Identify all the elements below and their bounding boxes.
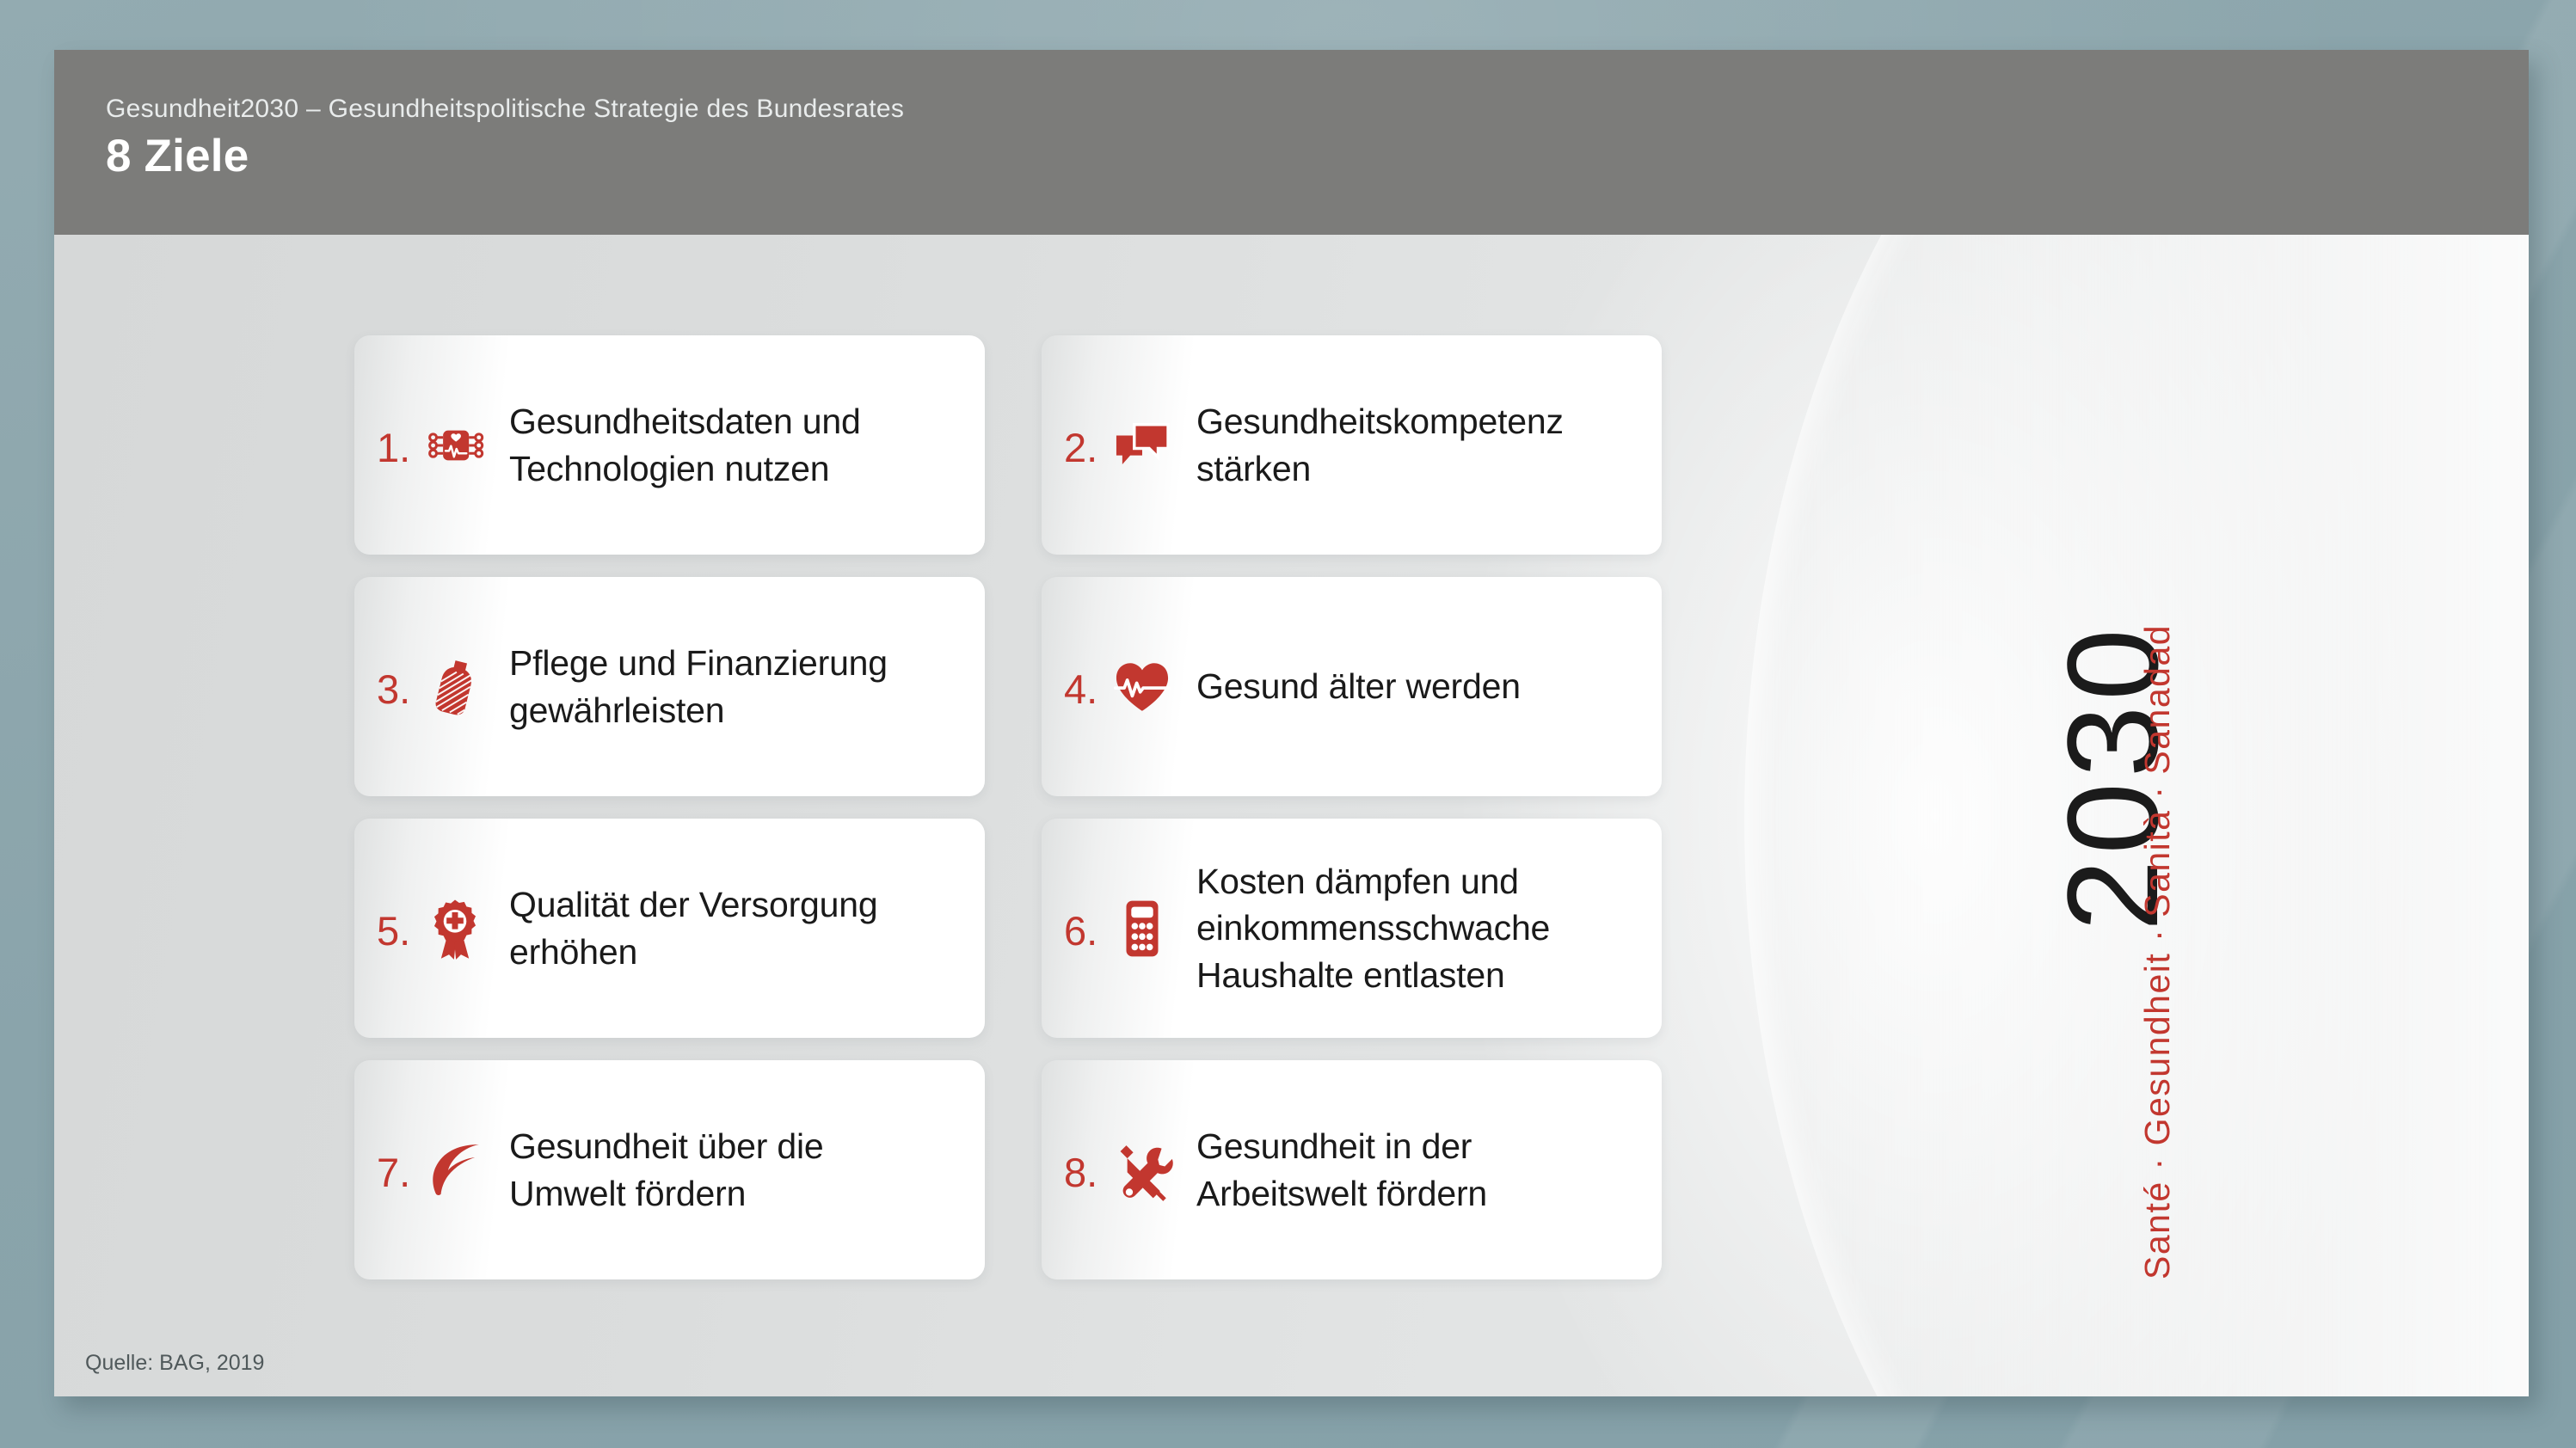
goal-number: 3. xyxy=(377,664,423,709)
slide-eyebrow: Gesundheit2030 – Gesundheitspolitische S… xyxy=(106,95,904,124)
brand-languages: Santé · Gesundheit · Sanità · Sanadad xyxy=(2137,355,2178,1279)
slide: Gesundheit2030 – Gesundheitspolitische S… xyxy=(54,50,2529,1396)
goal-card-5[interactable]: 5. Qualität der Versorgung erhöhen xyxy=(354,819,985,1038)
goal-label: Gesund älter werden xyxy=(1196,663,1626,709)
goal-label: Gesundheit in der Arbeitswelt fördern xyxy=(1196,1123,1626,1216)
goal-label: Qualität der Versorgung erhöhen xyxy=(509,881,949,974)
goal-card-4[interactable]: 4. Gesund älter werden xyxy=(1042,577,1662,796)
goal-card-grid: 1. xyxy=(354,335,1662,1279)
goal-label: Gesundheit über die Umwelt fördern xyxy=(509,1123,949,1216)
page-title: 8 Ziele xyxy=(106,130,249,182)
goal-label: Kosten dämpfen und einkommensschwache Ha… xyxy=(1196,858,1626,997)
screwdriver-wrench-icon xyxy=(1110,1138,1174,1202)
slide-header-band: Gesundheit2030 – Gesundheitspolitische S… xyxy=(54,50,2529,235)
goal-label: Pflege und Finanzierung gewährleisten xyxy=(509,640,949,733)
goal-card-7[interactable]: 7. Gesundheit über die Umwelt fördern xyxy=(354,1060,985,1279)
goal-card-6[interactable]: 6. Kosten dämpfen und einkommen xyxy=(1042,819,1662,1038)
goal-number: 4. xyxy=(1064,664,1110,709)
goal-number: 5. xyxy=(377,905,423,951)
calculator-icon xyxy=(1110,897,1174,960)
slide-body: 1. xyxy=(54,235,2529,1396)
goal-number: 1. xyxy=(377,422,423,468)
goal-number: 2. xyxy=(1064,422,1110,468)
speech-bubbles-icon xyxy=(1110,414,1174,477)
goal-label: Gesundheitskompetenz stärken xyxy=(1196,398,1626,491)
award-rosette-cross-icon xyxy=(423,897,487,960)
heart-pulse-icon xyxy=(1110,655,1174,719)
leaf-icon xyxy=(423,1138,487,1202)
microchip-heart-pulse-icon xyxy=(423,414,487,477)
slide-backdrop: Gesundheit2030 – Gesundheitspolitische S… xyxy=(0,0,2576,1448)
goal-card-1[interactable]: 1. xyxy=(354,335,985,555)
goal-label: Gesundheitsdaten und Technologien nutzen xyxy=(509,398,949,491)
goal-card-2[interactable]: 2. Gesundheitskompetenz stärken xyxy=(1042,335,1662,555)
hot-water-bottle-icon xyxy=(423,655,487,719)
goal-number: 6. xyxy=(1064,905,1110,951)
source-note: Quelle: BAG, 2019 xyxy=(85,1351,264,1376)
goal-card-3[interactable]: 3. P xyxy=(354,577,985,796)
goal-number: 7. xyxy=(377,1147,423,1193)
goal-number: 8. xyxy=(1064,1147,1110,1193)
goal-card-8[interactable]: 8. xyxy=(1042,1060,1662,1279)
brand-block: 2030 Santé · Gesundheit · Sanità · Sanad… xyxy=(2024,355,2282,1310)
